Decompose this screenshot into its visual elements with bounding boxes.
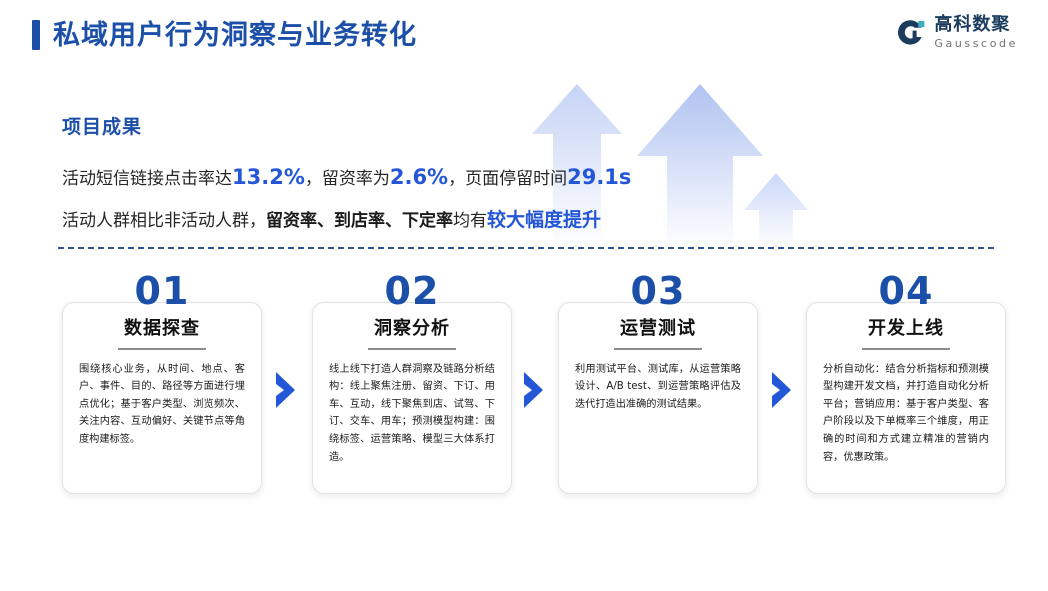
step-card-body[interactable]: 数据探查 围绕核心业务，从时间、地点、客户、事件、目的、路径等方面进行埋点优化；…	[62, 302, 262, 494]
brand-logo: 高科数聚 Gausscode	[896, 16, 1018, 49]
step-description: 利用测试平台、测试库，从运营策略设计、A/B test、到运营策略评估及迭代打造…	[571, 361, 745, 414]
step-card-02[interactable]: 02 洞察分析 线上线下打造人群洞察及链路分析结构：线上聚焦注册、留资、下订、用…	[312, 272, 512, 494]
step-number: 04	[806, 272, 1006, 312]
page-header: 私域用户行为洞察与业务转化 高科数聚 Gausscode	[0, 0, 1048, 78]
brand-name-cn: 高科数聚	[934, 16, 1018, 34]
metric-lead-rate: 2.6%	[390, 165, 448, 189]
gausscode-logo-icon	[896, 18, 926, 48]
step-description: 分析自动化：结合分析指标和预测模型构建开发文档，并打造自动化分析平台；营销应用：…	[819, 361, 993, 466]
step-title: 运营测试	[571, 319, 745, 339]
step-title: 洞察分析	[325, 319, 499, 339]
step-title-rule	[368, 348, 456, 350]
page-title: 私域用户行为洞察与业务转化	[53, 22, 417, 49]
results-l2-metrics: 留资率、到店率、下定率	[266, 211, 453, 231]
step-chevron-icon-1	[273, 370, 299, 410]
step-title-rule	[614, 348, 702, 350]
step-title: 数据探查	[75, 319, 249, 339]
step-card-04[interactable]: 04 开发上线 分析自动化：结合分析指标和预测模型构建开发文档，并打造自动化分析…	[806, 272, 1006, 494]
step-title: 开发上线	[819, 319, 993, 339]
process-steps: 01 数据探查 围绕核心业务，从时间、地点、客户、事件、目的、路径等方面进行埋点…	[0, 272, 1048, 522]
title-accent-bar	[32, 20, 40, 50]
section-divider	[58, 247, 994, 249]
results-l1-text-3: ，页面停留时间	[448, 169, 567, 189]
step-card-01[interactable]: 01 数据探查 围绕核心业务，从时间、地点、客户、事件、目的、路径等方面进行埋点…	[62, 272, 262, 494]
results-l2-text-2: 均有	[453, 211, 487, 231]
step-card-body[interactable]: 开发上线 分析自动化：结合分析指标和预测模型构建开发文档，并打造自动化分析平台；…	[806, 302, 1006, 494]
metric-click-rate: 13.2%	[232, 165, 305, 189]
results-l1-text-2: ，留资率为	[305, 169, 390, 189]
step-title-rule	[862, 348, 950, 350]
step-chevron-icon-3	[769, 370, 795, 410]
step-description: 围绕核心业务，从时间、地点、客户、事件、目的、路径等方面进行埋点优化；基于客户类…	[75, 361, 249, 449]
step-card-03[interactable]: 03 运营测试 利用测试平台、测试库，从运营策略设计、A/B test、到运营策…	[558, 272, 758, 494]
results-l2-emphasis: 较大幅度提升	[487, 209, 601, 231]
step-number: 01	[62, 272, 262, 312]
results-line-2: 活动人群相比非活动人群，留资率、到店率、下定率均有较大幅度提升	[62, 206, 762, 235]
page-title-group: 私域用户行为洞察与业务转化	[32, 20, 417, 50]
project-results-section: 项目成果 活动短信链接点击率达13.2%，留资率为2.6%，页面停留时间29.1…	[62, 112, 762, 247]
step-number: 02	[312, 272, 512, 312]
step-card-body[interactable]: 运营测试 利用测试平台、测试库，从运营策略设计、A/B test、到运营策略评估…	[558, 302, 758, 494]
brand-text: 高科数聚 Gausscode	[934, 16, 1018, 49]
results-line-1: 活动短信链接点击率达13.2%，留资率为2.6%，页面停留时间29.1s	[62, 161, 762, 194]
results-l2-text-1: 活动人群相比非活动人群，	[62, 211, 266, 231]
step-title-rule	[118, 348, 206, 350]
results-l1-text-1: 活动短信链接点击率达	[62, 169, 232, 189]
step-description: 线上线下打造人群洞察及链路分析结构：线上聚焦注册、留资、下订、用车、互动，线下聚…	[325, 361, 499, 466]
step-number: 03	[558, 272, 758, 312]
metric-dwell-time: 29.1s	[567, 165, 631, 189]
step-chevron-icon-2	[521, 370, 547, 410]
brand-name-en: Gausscode	[934, 38, 1018, 49]
step-card-body[interactable]: 洞察分析 线上线下打造人群洞察及链路分析结构：线上聚焦注册、留资、下订、用车、互…	[312, 302, 512, 494]
project-results-heading: 项目成果	[62, 112, 762, 139]
